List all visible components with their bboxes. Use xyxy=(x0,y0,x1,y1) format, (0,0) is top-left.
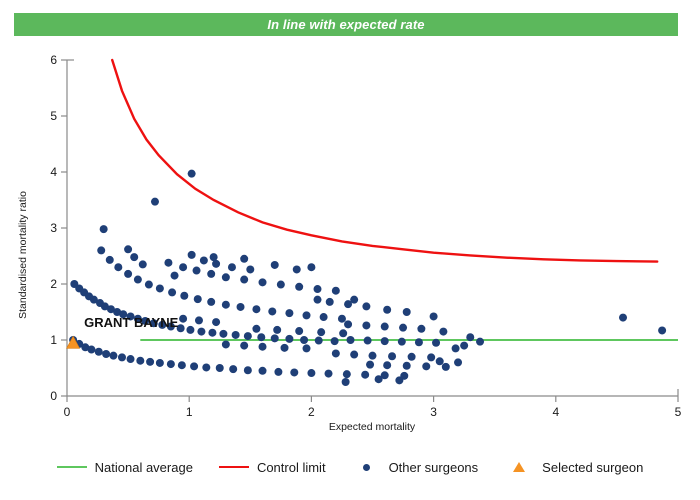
scatter-point[interactable] xyxy=(259,343,267,351)
scatter-point[interactable] xyxy=(381,337,389,345)
scatter-point[interactable] xyxy=(315,337,323,345)
scatter-point[interactable] xyxy=(347,336,355,344)
legend-item-selected-surgeon[interactable]: Selected surgeon xyxy=(504,460,643,475)
scatter-point[interactable] xyxy=(95,348,103,356)
legend-item-other-surgeons[interactable]: Other surgeons xyxy=(352,460,479,475)
scatter-point[interactable] xyxy=(366,361,374,369)
scatter-point[interactable] xyxy=(124,245,132,253)
selected-surgeon-label: GRANT BAYNE xyxy=(84,315,178,330)
scatter-point[interactable] xyxy=(331,337,339,345)
scatter-point[interactable] xyxy=(188,170,196,178)
scatter-point[interactable] xyxy=(381,323,389,331)
scatter-point[interactable] xyxy=(252,325,260,333)
scatter-point[interactable] xyxy=(362,302,370,310)
scatter-point[interactable] xyxy=(200,256,208,264)
y-tick-label: 2 xyxy=(50,277,57,291)
scatter-point[interactable] xyxy=(208,329,216,337)
scatter-point[interactable] xyxy=(403,308,411,316)
line-swatch-icon xyxy=(57,466,87,468)
scatter-point[interactable] xyxy=(186,326,194,334)
scatter-point[interactable] xyxy=(303,311,311,319)
y-axis-title: Standardised mortality ratio xyxy=(17,191,29,319)
scatter-point[interactable] xyxy=(100,225,108,233)
scatter-point[interactable] xyxy=(442,363,450,371)
scatter-point[interactable] xyxy=(136,357,144,365)
scatter-point[interactable] xyxy=(240,342,248,350)
y-tick-label: 1 xyxy=(50,333,57,347)
scatter-point[interactable] xyxy=(102,350,110,358)
scatter-point[interactable] xyxy=(460,342,468,350)
scatter-point[interactable] xyxy=(207,298,215,306)
scatter-point[interactable] xyxy=(164,259,172,267)
scatter-point[interactable] xyxy=(237,303,245,311)
scatter-point[interactable] xyxy=(285,335,293,343)
scatter-point[interactable] xyxy=(303,344,311,352)
scatter-point[interactable] xyxy=(273,326,281,334)
scatter-point[interactable] xyxy=(179,315,187,323)
scatter-point[interactable] xyxy=(240,255,248,263)
scatter-point[interactable] xyxy=(210,253,218,261)
scatter-point[interactable] xyxy=(295,327,303,335)
scatter-point[interactable] xyxy=(332,287,340,295)
scatter-point[interactable] xyxy=(244,332,252,340)
scatter-point[interactable] xyxy=(156,359,164,367)
scatter-point[interactable] xyxy=(190,362,198,370)
x-axis-title: Expected mortality xyxy=(329,421,416,433)
scatter-point[interactable] xyxy=(619,314,627,322)
legend-label-control-limit: Control limit xyxy=(257,460,326,475)
scatter-point[interactable] xyxy=(383,306,391,314)
scatter-point[interactable] xyxy=(285,309,293,317)
axis-tick-labels: 0123456012345 xyxy=(50,53,681,419)
scatter-point[interactable] xyxy=(274,368,282,376)
scatter-point[interactable] xyxy=(222,273,230,281)
scatter-point[interactable] xyxy=(403,362,411,370)
scatter-point[interactable] xyxy=(454,358,462,366)
scatter-point[interactable] xyxy=(281,344,289,352)
scatter-point[interactable] xyxy=(307,369,315,377)
x-tick-label: 1 xyxy=(186,405,193,419)
status-banner: In line with expected rate xyxy=(14,13,678,36)
scatter-point[interactable] xyxy=(342,378,350,386)
x-tick-label: 2 xyxy=(308,405,315,419)
scatter-point[interactable] xyxy=(259,367,267,375)
scatter-point[interactable] xyxy=(130,253,138,261)
scatter-point[interactable] xyxy=(314,285,322,293)
scatter-point[interactable] xyxy=(114,263,122,271)
scatter-point[interactable] xyxy=(422,362,430,370)
scatter-point[interactable] xyxy=(257,333,265,341)
scatter-point[interactable] xyxy=(417,325,425,333)
scatter-point[interactable] xyxy=(106,256,114,264)
axis-ticks xyxy=(61,60,678,402)
scatter-point[interactable] xyxy=(362,321,370,329)
scatter-point[interactable] xyxy=(212,318,220,326)
scatter-point[interactable] xyxy=(146,358,154,366)
scatter-point[interactable] xyxy=(430,312,438,320)
scatter-point[interactable] xyxy=(168,288,176,296)
scatter-point[interactable] xyxy=(408,353,416,361)
scatter-point[interactable] xyxy=(290,368,298,376)
scatter-point[interactable] xyxy=(127,355,135,363)
legend-label-selected-surgeon: Selected surgeon xyxy=(542,460,643,475)
scatter-point[interactable] xyxy=(246,265,254,273)
funnel-plot-svg: 0123456012345 Standardised mortality rat… xyxy=(0,40,700,450)
scatter-point[interactable] xyxy=(325,370,333,378)
scatter-point[interactable] xyxy=(171,272,179,280)
scatter-point[interactable] xyxy=(219,330,227,338)
scatter-point[interactable] xyxy=(350,296,358,304)
scatter-point[interactable] xyxy=(395,376,403,384)
scatter-point[interactable] xyxy=(178,361,186,369)
scatter-point[interactable] xyxy=(398,338,406,346)
scatter-point[interactable] xyxy=(271,261,279,269)
x-tick-label: 4 xyxy=(552,405,559,419)
scatter-point[interactable] xyxy=(361,371,369,379)
control-limit-line xyxy=(112,60,657,262)
scatter-point[interactable] xyxy=(326,298,334,306)
scatter-point[interactable] xyxy=(436,357,444,365)
scatter-point[interactable] xyxy=(252,305,260,313)
scatter-point[interactable] xyxy=(332,349,340,357)
scatter-point[interactable] xyxy=(222,301,230,309)
scatter-point[interactable] xyxy=(364,337,372,345)
scatter-point[interactable] xyxy=(388,352,396,360)
scatter-point[interactable] xyxy=(207,270,215,278)
scatter-point[interactable] xyxy=(375,375,383,383)
scatter-point[interactable] xyxy=(383,361,391,369)
scatter-point[interactable] xyxy=(344,320,352,328)
scatter-point[interactable] xyxy=(240,276,248,284)
triangle-swatch-icon xyxy=(513,462,525,472)
scatter-point[interactable] xyxy=(369,352,377,360)
legend-label-other-surgeons: Other surgeons xyxy=(389,460,479,475)
y-tick-label: 4 xyxy=(50,165,57,179)
scatter-point[interactable] xyxy=(293,265,301,273)
x-tick-label: 3 xyxy=(430,405,437,419)
scatter-point[interactable] xyxy=(134,276,142,284)
other-surgeons-points[interactable] xyxy=(69,170,666,386)
legend-label-national-average: National average xyxy=(95,460,193,475)
scatter-point[interactable] xyxy=(244,366,252,374)
scatter-point[interactable] xyxy=(222,340,230,348)
scatter-point[interactable] xyxy=(202,363,210,371)
scatter-point[interactable] xyxy=(195,316,203,324)
scatter-point[interactable] xyxy=(466,333,474,341)
scatter-point[interactable] xyxy=(232,331,240,339)
scatter-point[interactable] xyxy=(320,313,328,321)
scatter-point[interactable] xyxy=(188,251,196,259)
scatter-point[interactable] xyxy=(194,295,202,303)
scatter-point[interactable] xyxy=(97,246,105,254)
scatter-point[interactable] xyxy=(118,353,126,361)
scatter-point[interactable] xyxy=(139,260,147,268)
scatter-point[interactable] xyxy=(156,284,164,292)
scatter-point[interactable] xyxy=(197,328,205,336)
scatter-point[interactable] xyxy=(339,329,347,337)
scatter-point[interactable] xyxy=(277,281,285,289)
x-tick-label: 0 xyxy=(64,405,71,419)
scatter-point[interactable] xyxy=(307,263,315,271)
scatter-point[interactable] xyxy=(271,334,279,342)
plot-axes xyxy=(67,60,678,396)
scatter-point[interactable] xyxy=(300,336,308,344)
scatter-point[interactable] xyxy=(439,328,447,336)
scatter-point[interactable] xyxy=(658,326,666,334)
y-tick-label: 0 xyxy=(50,389,57,403)
scatter-point[interactable] xyxy=(109,352,117,360)
legend-item-national-average[interactable]: National average xyxy=(57,460,193,475)
scatter-point[interactable] xyxy=(314,296,322,304)
scatter-point[interactable] xyxy=(259,278,267,286)
line-swatch-icon xyxy=(219,466,249,468)
scatter-point[interactable] xyxy=(295,283,303,291)
chart-container: 0123456012345 Standardised mortality rat… xyxy=(0,40,700,450)
scatter-point[interactable] xyxy=(180,292,188,300)
scatter-point[interactable] xyxy=(87,346,95,354)
scatter-point[interactable] xyxy=(268,307,276,315)
scatter-point[interactable] xyxy=(229,365,237,373)
scatter-point[interactable] xyxy=(317,328,325,336)
scatter-point[interactable] xyxy=(432,339,440,347)
dot-swatch-icon xyxy=(363,464,370,471)
scatter-point[interactable] xyxy=(228,263,236,271)
scatter-point[interactable] xyxy=(350,351,358,359)
y-tick-label: 6 xyxy=(50,53,57,67)
scatter-point[interactable] xyxy=(179,263,187,271)
scatter-point[interactable] xyxy=(216,364,224,372)
scatter-point[interactable] xyxy=(476,338,484,346)
scatter-point[interactable] xyxy=(338,315,346,323)
y-tick-label: 3 xyxy=(50,221,57,235)
y-tick-label: 5 xyxy=(50,109,57,123)
scatter-point[interactable] xyxy=(145,281,153,289)
scatter-point[interactable] xyxy=(427,353,435,361)
scatter-point[interactable] xyxy=(399,324,407,332)
status-banner-label: In line with expected rate xyxy=(267,17,424,32)
chart-legend: National average Control limit Other sur… xyxy=(0,452,700,482)
scatter-point[interactable] xyxy=(193,267,201,275)
scatter-point[interactable] xyxy=(167,360,175,368)
x-tick-label: 5 xyxy=(675,405,682,419)
legend-item-control-limit[interactable]: Control limit xyxy=(219,460,326,475)
funnel-plot-page: In line with expected rate 0123456012345… xyxy=(0,0,700,500)
scatter-point[interactable] xyxy=(124,270,132,278)
scatter-point[interactable] xyxy=(343,370,351,378)
scatter-point[interactable] xyxy=(452,344,460,352)
scatter-point[interactable] xyxy=(415,338,423,346)
scatter-point[interactable] xyxy=(151,198,159,206)
